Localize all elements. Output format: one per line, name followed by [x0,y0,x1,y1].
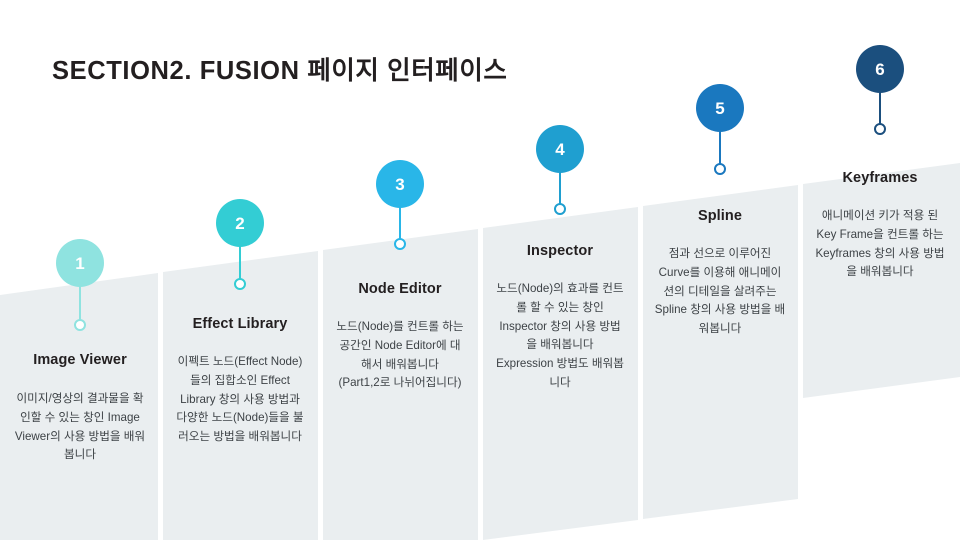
step-title-4: Inspector [480,243,640,259]
step-title-3: Node Editor [320,281,480,297]
panel-shape-5 [643,185,798,519]
step-ring-1 [74,319,86,331]
step-number-2: 2 [235,215,244,232]
step-title-6: Keyframes [800,170,960,186]
step-body-1: 이미지/영상의 결과물을 확 인할 수 있는 창인 Image Viewer의 … [8,390,152,465]
step-title-5: Spline [640,208,800,224]
step-ring-2 [234,278,246,290]
step-ring-3 [394,238,406,250]
step-ring-6 [874,123,886,135]
step-number-6: 6 [875,61,884,78]
step-ring-4 [554,203,566,215]
step-number-3: 3 [395,176,404,193]
step-title-2: Effect Library [160,316,320,332]
step-body-6: 애니메이션 키가 적용 된 Key Frame을 컨트롤 하는 Keyframe… [808,207,952,282]
step-body-4: 노드(Node)의 효과를 컨트 롤 할 수 있는 창인 Inspector 창… [488,280,632,393]
step-body-2: 이펙트 노드(Effect Node) 들의 집합소인 Effect Libra… [168,353,312,447]
step-bubble-6[interactable]: 6 [856,45,904,93]
step-body-5: 점과 선으로 이루어진 Curve를 이용해 애니메이 션의 디테일을 살려주는… [648,245,792,339]
step-number-5: 5 [715,100,724,117]
step-body-3: 노드(Node)를 컨트롤 하는 공간인 Node Editor에 대 해서 배… [328,318,472,393]
step-number-1: 1 [75,255,84,272]
slide-canvas: SECTION2. FUSION 페이지 인터페이스 1 Image Viewe… [0,0,960,540]
step-bubble-5[interactable]: 5 [696,84,744,132]
page-title: SECTION2. FUSION 페이지 인터페이스 [52,50,507,87]
step-bubble-3[interactable]: 3 [376,160,424,208]
step-bubble-4[interactable]: 4 [536,125,584,173]
step-number-4: 4 [555,141,564,158]
step-bubble-2[interactable]: 2 [216,199,264,247]
step-ring-5 [714,163,726,175]
step-bubble-1[interactable]: 1 [56,239,104,287]
step-title-1: Image Viewer [0,352,160,368]
